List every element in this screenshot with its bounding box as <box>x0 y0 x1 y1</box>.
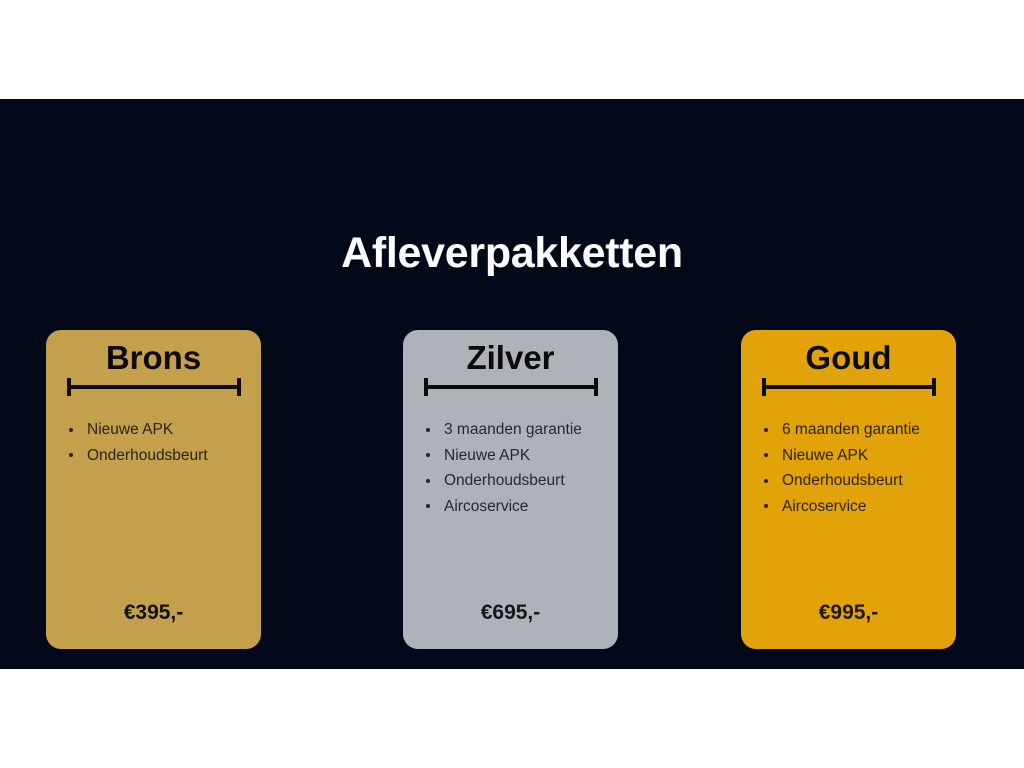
list-item: Aircoservice <box>750 494 956 520</box>
bullet-icon <box>764 504 768 508</box>
list-item: Nieuwe APK <box>412 443 618 469</box>
package-price: €395,- <box>46 599 261 627</box>
feature-label: Nieuwe APK <box>444 447 530 464</box>
list-item: Nieuwe APK <box>750 443 956 469</box>
list-item: 6 maanden garantie <box>750 417 956 443</box>
feature-label: Nieuwe APK <box>782 447 868 464</box>
package-price: €995,- <box>741 599 956 627</box>
list-item: Nieuwe APK <box>55 417 261 443</box>
bullet-icon <box>426 453 430 457</box>
package-card-goud[interactable]: Goud 6 maanden garantie Nieuwe APK Onder… <box>741 330 956 649</box>
bullet-icon <box>426 479 430 483</box>
list-item: Aircoservice <box>412 494 618 520</box>
feature-label: Onderhoudsbeurt <box>444 472 565 489</box>
dimension-line-icon <box>762 378 936 396</box>
package-feature-list: 3 maanden garantie Nieuwe APK Onderhouds… <box>412 417 618 519</box>
list-item: Onderhoudsbeurt <box>750 468 956 494</box>
package-feature-list: 6 maanden garantie Nieuwe APK Onderhouds… <box>750 417 956 519</box>
package-feature-list: Nieuwe APK Onderhoudsbeurt <box>55 417 261 468</box>
bullet-icon <box>69 428 73 432</box>
feature-label: Aircoservice <box>444 498 528 515</box>
package-cards: Brons Nieuwe APK Onderhoudsbeurt €395,- … <box>0 330 1024 650</box>
bullet-icon <box>426 428 430 432</box>
bullet-icon <box>426 504 430 508</box>
page-frame: Afleverpakketten Brons Nieuwe APK Onderh… <box>0 0 1024 768</box>
bullet-icon <box>69 453 73 457</box>
bullet-icon <box>764 453 768 457</box>
list-item: Onderhoudsbeurt <box>55 443 261 469</box>
feature-label: 3 maanden garantie <box>444 421 582 438</box>
feature-label: Onderhoudsbeurt <box>87 447 208 464</box>
dimension-line-icon <box>424 378 598 396</box>
package-price: €695,- <box>403 599 618 627</box>
bullet-icon <box>764 428 768 432</box>
dimension-line-icon <box>67 378 241 396</box>
list-item: 3 maanden garantie <box>412 417 618 443</box>
package-card-brons[interactable]: Brons Nieuwe APK Onderhoudsbeurt €395,- <box>46 330 261 649</box>
package-title: Zilver <box>403 338 618 378</box>
package-card-zilver[interactable]: Zilver 3 maanden garantie Nieuwe APK Ond… <box>403 330 618 649</box>
pricing-banner: Afleverpakketten Brons Nieuwe APK Onderh… <box>0 99 1024 669</box>
list-item: Onderhoudsbeurt <box>412 468 618 494</box>
feature-label: 6 maanden garantie <box>782 421 920 438</box>
feature-label: Nieuwe APK <box>87 421 173 438</box>
feature-label: Aircoservice <box>782 498 866 515</box>
bullet-icon <box>764 479 768 483</box>
page-title: Afleverpakketten <box>0 227 1024 279</box>
package-title: Brons <box>46 338 261 378</box>
feature-label: Onderhoudsbeurt <box>782 472 903 489</box>
package-title: Goud <box>741 338 956 378</box>
